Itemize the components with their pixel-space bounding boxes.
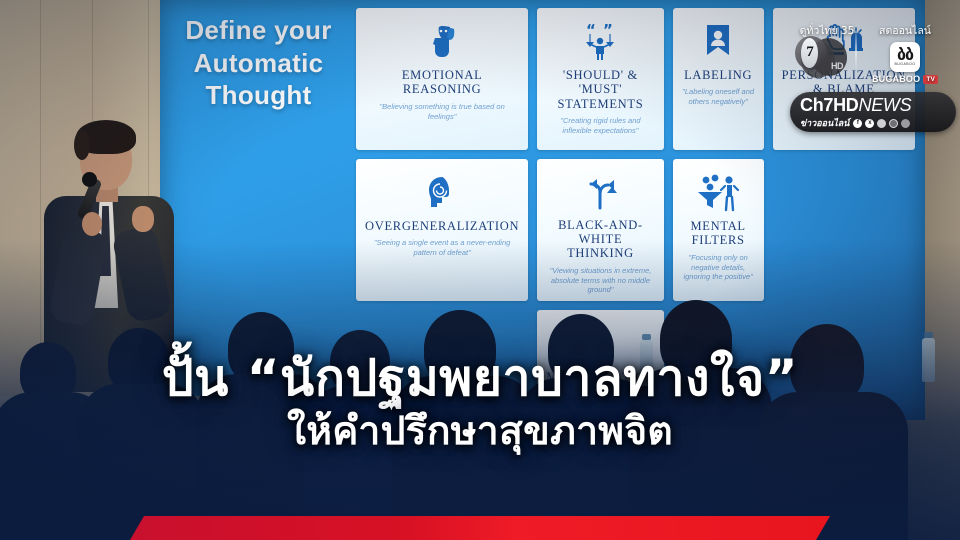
bottom-red-bar <box>130 516 830 540</box>
bug-divider <box>855 28 857 70</box>
ch7-logo-icon: 7 HD <box>795 36 851 80</box>
tiktok-icon[interactable] <box>901 119 910 128</box>
live-bug: สดออนไลน์ ბბ BUGABOO BUGABOO TV <box>862 22 948 84</box>
news-brand-tagline: ข่าวออนไลน์ <box>800 116 849 130</box>
live-bug-label: สดออนไลน์ <box>862 22 948 39</box>
news-brand-subrow: ข่าวออนไลน์ f x <box>800 116 946 130</box>
news-brand-bar: Ch7HDNEWS ข่าวออนไลน์ f x <box>790 92 956 132</box>
caption-line-1: ปั้น “นักปฐมพยาบาลทางใจ” <box>0 352 960 405</box>
news-brand-wordmark: Ch7HDNEWS <box>800 96 946 115</box>
caption-line-2: ให้คำปรึกษาสุขภาพจิต <box>0 409 960 456</box>
social-icon-row: f x <box>853 119 910 128</box>
facebook-icon[interactable]: f <box>853 119 862 128</box>
bugaboo-wordmark-row: BUGABOO TV <box>862 74 948 84</box>
bugaboo-wordmark: BUGABOO <box>872 74 920 84</box>
bugaboo-mark: ბბ <box>897 48 913 61</box>
news-brand-italic: NEWS <box>859 95 912 115</box>
news-screenshot: Define your Automatic Thought EMOTIONAL <box>0 0 960 540</box>
channel-bug: ดูทั่วไทย 35 7 HD <box>795 22 857 82</box>
x-icon[interactable]: x <box>865 119 874 128</box>
ch7-logo-hd: HD <box>831 61 843 71</box>
bugaboo-logo-icon: ბბ BUGABOO <box>890 42 920 72</box>
bugaboo-logo-caption: BUGABOO <box>895 62 916 66</box>
bugaboo-tv-tag: TV <box>923 75 938 84</box>
news-caption: ปั้น “นักปฐมพยาบาลทางใจ” ให้คำปรึกษาสุขภ… <box>0 352 960 456</box>
youtube-icon[interactable] <box>889 119 898 128</box>
news-brand-bold: Ch7HD <box>800 95 859 115</box>
line-icon[interactable] <box>877 119 886 128</box>
ch7-logo-number: 7 <box>803 43 817 61</box>
